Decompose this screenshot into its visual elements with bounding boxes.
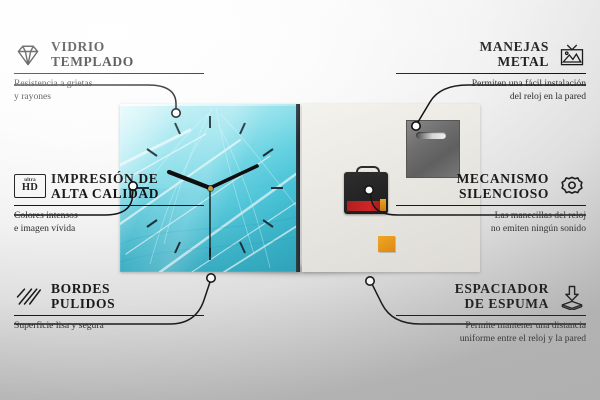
polished-edges-icon <box>14 284 42 310</box>
callout-description: Permiten una fácil instalación del reloj… <box>396 78 586 103</box>
gear-icon <box>558 174 586 200</box>
callout-title-line1: MECANISMO <box>457 172 549 187</box>
callout-titles: MECANISMO SILENCIOSO <box>457 172 549 201</box>
callout-title-line1: BORDES <box>51 282 115 297</box>
callout-titles: BORDES PULIDOS <box>51 282 115 311</box>
callout-header: ultra HD IMPRESIÓN DE ALTA CALIDAD <box>14 172 204 201</box>
callout-impresion-alta-calidad[interactable]: ultra HD IMPRESIÓN DE ALTA CALIDAD Color… <box>14 172 204 235</box>
callout-divider <box>396 73 586 74</box>
callout-title-line2: SILENCIOSO <box>457 187 549 202</box>
callout-titles: MANEJAS METAL <box>480 40 549 69</box>
callout-description: Superficie lisa y segura <box>14 320 204 333</box>
callout-header: BORDES PULIDOS <box>14 282 204 311</box>
callout-title-line2: DE ESPUMA <box>455 297 549 312</box>
callout-bordes-pulidos[interactable]: BORDES PULIDOS Superficie lisa y segura <box>14 282 204 333</box>
callout-header: VIDRIO TEMPLADO <box>14 40 204 69</box>
callout-description: Permite mantener una distancia uniforme … <box>396 320 586 345</box>
hanger-slot <box>416 132 446 139</box>
callout-header: ESPACIADOR DE ESPUMA <box>396 282 586 311</box>
clock-side-edge <box>296 104 300 272</box>
callout-mecanismo-silencioso[interactable]: MECANISMO SILENCIOSO Las manecillas del … <box>396 172 586 235</box>
infographic-canvas: VIDRIO TEMPLADO Resistencia a grietas y … <box>0 0 600 400</box>
callout-title-line1: ESPACIADOR <box>455 282 549 297</box>
battery <box>347 201 385 211</box>
diamond-icon <box>14 42 42 68</box>
callout-header: MECANISMO SILENCIOSO <box>396 172 586 201</box>
callout-header: MANEJAS METAL <box>396 40 586 69</box>
callout-description: Resistencia a grietas y rayones <box>14 78 204 103</box>
callout-title-line2: PULIDOS <box>51 297 115 312</box>
callout-divider <box>14 205 204 206</box>
foam-spacer <box>378 236 395 252</box>
callout-title-line1: VIDRIO <box>51 40 134 55</box>
callout-titles: ESPACIADOR DE ESPUMA <box>455 282 549 311</box>
callout-divider <box>396 315 586 316</box>
callout-titles: IMPRESIÓN DE ALTA CALIDAD <box>51 172 159 201</box>
hd-icon-large-text: HD <box>22 183 38 194</box>
callout-description: Las manecillas del reloj no emiten ningú… <box>396 210 586 235</box>
callout-title-line1: MANEJAS <box>480 40 549 55</box>
callout-titles: VIDRIO TEMPLADO <box>51 40 134 69</box>
callout-description: Colores intensos e imagen vívida <box>14 210 204 235</box>
clock-center-pivot <box>208 186 213 191</box>
callout-divider <box>14 73 204 74</box>
callout-title-line2: METAL <box>480 55 549 70</box>
callout-divider <box>396 205 586 206</box>
callout-vidrio-templado[interactable]: VIDRIO TEMPLADO Resistencia a grietas y … <box>14 40 204 103</box>
callout-title-line1: IMPRESIÓN DE <box>51 172 159 187</box>
picture-frame-icon <box>558 42 586 68</box>
callout-title-line2: TEMPLADO <box>51 55 134 70</box>
mechanism-hook <box>356 166 380 176</box>
clock-mechanism <box>344 172 388 214</box>
callout-divider <box>14 315 204 316</box>
callout-manejas-metal[interactable]: MANEJAS METAL Permiten una fácil instala… <box>396 40 586 103</box>
foam-spacer-arrow-icon <box>558 284 586 310</box>
callout-title-line2: ALTA CALIDAD <box>51 187 159 202</box>
callout-espaciador-espuma[interactable]: ESPACIADOR DE ESPUMA Permite mantener un… <box>396 282 586 345</box>
metal-hanger-plate <box>406 120 460 178</box>
ultra-hd-icon: ultra HD <box>14 174 42 200</box>
